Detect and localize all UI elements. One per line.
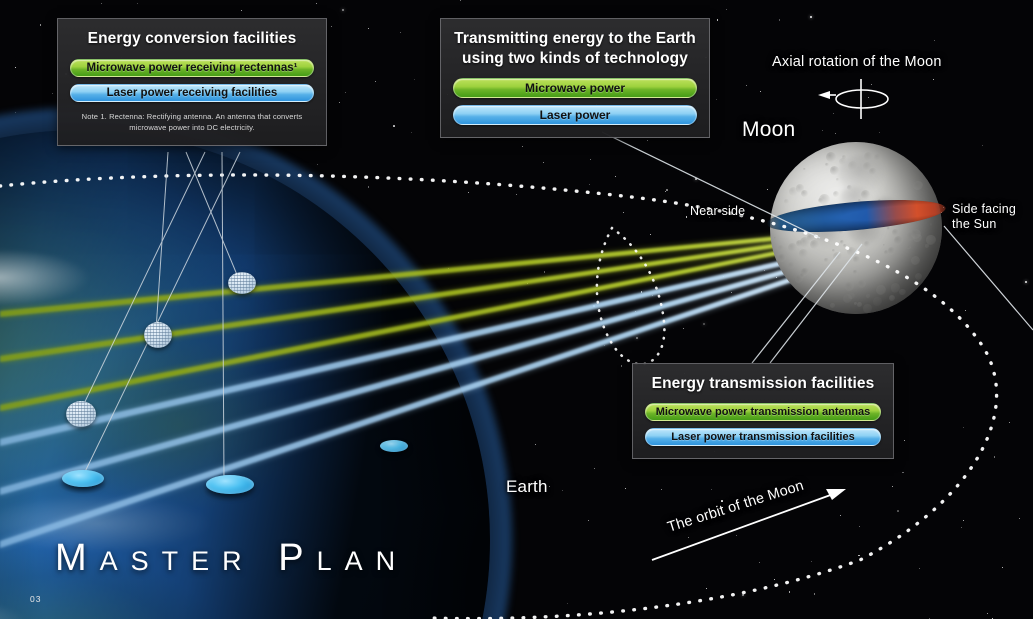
star bbox=[963, 427, 964, 428]
moon-crater bbox=[833, 252, 843, 262]
star bbox=[594, 468, 595, 469]
sun-side-leader-line bbox=[944, 226, 1033, 330]
star bbox=[859, 526, 860, 527]
star bbox=[695, 178, 697, 180]
panel-title: Energy conversion facilities bbox=[70, 29, 314, 49]
moon-crater bbox=[833, 191, 839, 197]
legend-pill-microwave-receiving[interactable]: Microwave power receiving rectennas¹ bbox=[70, 59, 314, 77]
near-side-marker-loop bbox=[597, 228, 665, 364]
star bbox=[879, 132, 880, 133]
moon-crater bbox=[889, 295, 895, 301]
star bbox=[706, 588, 707, 589]
moon-crater bbox=[873, 297, 882, 306]
star bbox=[902, 472, 904, 474]
moon-crater bbox=[866, 294, 870, 298]
star bbox=[636, 337, 638, 339]
moon-crater bbox=[840, 240, 844, 244]
moon-crater bbox=[863, 304, 872, 313]
star bbox=[40, 24, 42, 26]
star bbox=[686, 216, 688, 218]
star bbox=[342, 9, 344, 11]
moon-crater bbox=[848, 161, 859, 172]
star bbox=[625, 488, 626, 489]
moon-crater bbox=[843, 244, 846, 247]
star bbox=[604, 345, 605, 346]
moon-crater bbox=[819, 194, 830, 205]
star bbox=[368, 28, 369, 29]
star bbox=[822, 130, 823, 131]
label-earth: Earth bbox=[506, 477, 548, 497]
star bbox=[549, 486, 551, 488]
moon-crater bbox=[778, 254, 786, 262]
star bbox=[375, 81, 376, 82]
legend-pill-laser-transmission[interactable]: Laser power transmission facilities bbox=[645, 428, 881, 446]
moon-crater bbox=[864, 241, 870, 247]
star bbox=[1002, 567, 1003, 568]
star bbox=[339, 102, 340, 103]
moon-crater bbox=[778, 245, 784, 251]
star bbox=[623, 212, 624, 213]
rectenna-receiving-facility bbox=[66, 401, 96, 427]
label-moon: Moon bbox=[742, 118, 795, 142]
star bbox=[1019, 518, 1020, 519]
star bbox=[650, 234, 651, 235]
moon-crater bbox=[926, 235, 935, 244]
moon-crater bbox=[842, 155, 846, 159]
star bbox=[814, 593, 816, 595]
panel-energy-conversion-facilities[interactable]: Energy conversion facilities Microwave p… bbox=[57, 18, 327, 146]
moon-crater bbox=[810, 240, 819, 249]
star bbox=[767, 189, 768, 190]
moon-crater bbox=[915, 273, 922, 280]
label-axial-rotation: Axial rotation of the Moon bbox=[772, 54, 942, 70]
moon-crater bbox=[801, 268, 809, 276]
star bbox=[567, 603, 568, 604]
moon-crater bbox=[913, 181, 923, 191]
star bbox=[641, 291, 643, 293]
moon-crater bbox=[784, 199, 789, 204]
star bbox=[393, 125, 395, 127]
star bbox=[965, 310, 967, 312]
star bbox=[588, 520, 589, 521]
star bbox=[621, 365, 623, 367]
moon-crater bbox=[864, 152, 873, 161]
moon-crater bbox=[894, 236, 904, 246]
star bbox=[711, 489, 712, 490]
legend-pill-microwave-transmission[interactable]: Microwave power transmission antennas bbox=[645, 403, 881, 421]
star bbox=[688, 537, 689, 538]
star bbox=[562, 490, 563, 491]
moon-crater bbox=[824, 258, 829, 263]
star bbox=[746, 85, 747, 86]
star bbox=[635, 311, 636, 312]
star bbox=[929, 618, 930, 619]
star bbox=[535, 444, 536, 445]
star bbox=[661, 489, 662, 490]
moon-crater bbox=[843, 294, 852, 303]
star bbox=[522, 146, 523, 147]
star bbox=[904, 440, 905, 441]
star bbox=[871, 84, 872, 85]
star bbox=[764, 270, 765, 271]
moon-crater bbox=[883, 244, 885, 246]
star bbox=[810, 16, 812, 18]
rectenna-receiving-facility bbox=[228, 272, 256, 294]
moon-crater bbox=[796, 240, 803, 247]
moon-crater bbox=[788, 243, 797, 252]
star bbox=[703, 323, 705, 325]
star bbox=[933, 79, 934, 80]
star bbox=[615, 176, 616, 177]
moon-crater bbox=[803, 168, 806, 171]
star bbox=[892, 486, 894, 488]
star bbox=[331, 26, 332, 27]
star bbox=[789, 591, 791, 593]
axial-rotation-icon bbox=[818, 79, 888, 119]
laser-receiving-facility bbox=[206, 475, 254, 494]
star bbox=[759, 562, 760, 563]
moon-crater bbox=[925, 244, 928, 247]
moon-crater bbox=[861, 190, 870, 199]
moon-crater bbox=[907, 246, 910, 249]
moon-crater bbox=[830, 166, 839, 175]
label-side-facing-sun: Side facing the Sun bbox=[952, 202, 1016, 233]
star bbox=[665, 191, 666, 192]
moon-crater bbox=[857, 302, 862, 307]
star bbox=[982, 145, 983, 146]
star bbox=[590, 159, 591, 160]
infographic-canvas: Energy conversion facilities Microwave p… bbox=[0, 0, 1033, 619]
star bbox=[987, 613, 988, 614]
moon-crater bbox=[891, 283, 900, 292]
moon-crater bbox=[876, 285, 886, 295]
star bbox=[811, 561, 812, 562]
moon-crater bbox=[874, 154, 881, 161]
legend-pill-laser-receiving[interactable]: Laser power receiving facilities bbox=[70, 84, 314, 102]
star bbox=[868, 97, 869, 98]
label-orbit-of-the-moon: The orbit of the Moon bbox=[666, 478, 806, 536]
star bbox=[833, 113, 834, 114]
star bbox=[723, 276, 724, 277]
star bbox=[963, 520, 964, 521]
star bbox=[774, 579, 775, 580]
label-near-side: Near side bbox=[690, 204, 745, 218]
moon-globe bbox=[770, 142, 942, 314]
star bbox=[676, 604, 677, 605]
star bbox=[652, 295, 653, 296]
moon-crater bbox=[830, 303, 835, 308]
star bbox=[683, 328, 684, 329]
star bbox=[731, 292, 732, 293]
panel-transmitting-energy[interactable]: Transmitting energy to the Earth using t… bbox=[440, 18, 710, 138]
star bbox=[241, 10, 242, 11]
moon-crater bbox=[858, 280, 866, 288]
star bbox=[15, 67, 16, 68]
star bbox=[137, 3, 138, 4]
star bbox=[840, 515, 841, 516]
star bbox=[316, 3, 317, 4]
star bbox=[589, 184, 590, 185]
legend-pill-laser-power[interactable]: Laser power bbox=[453, 105, 697, 125]
star bbox=[779, 19, 781, 21]
star bbox=[460, 0, 461, 1]
star bbox=[666, 189, 668, 191]
panel-title: Transmitting energy to the Earth using t… bbox=[453, 29, 697, 69]
star bbox=[726, 9, 727, 10]
rectenna-receiving-facility bbox=[144, 322, 172, 348]
star bbox=[717, 19, 719, 21]
star bbox=[858, 555, 860, 557]
moon-crater bbox=[911, 256, 921, 266]
moon-crater bbox=[888, 247, 895, 254]
star bbox=[414, 79, 415, 80]
star bbox=[527, 283, 528, 284]
star bbox=[543, 162, 544, 163]
star bbox=[516, 194, 517, 195]
moon-crater bbox=[825, 163, 829, 167]
moon-crater bbox=[796, 184, 804, 192]
star bbox=[961, 527, 962, 528]
star bbox=[716, 99, 717, 100]
moon-crater bbox=[799, 249, 808, 258]
star bbox=[835, 133, 836, 134]
star bbox=[345, 92, 346, 93]
star bbox=[101, 3, 103, 5]
laser-receiving-facility bbox=[380, 440, 408, 452]
star bbox=[742, 594, 744, 596]
moon-crater bbox=[847, 247, 856, 256]
moon-crater bbox=[887, 227, 890, 230]
star bbox=[994, 456, 996, 458]
star bbox=[760, 91, 761, 92]
moon-crater bbox=[845, 282, 854, 291]
moon-crater bbox=[853, 270, 857, 274]
star bbox=[897, 510, 899, 512]
star bbox=[647, 140, 648, 141]
moon-crater bbox=[853, 256, 860, 263]
panel-title: Energy transmission facilities bbox=[645, 374, 881, 394]
star bbox=[593, 305, 595, 307]
moon-crater bbox=[826, 152, 836, 162]
moon-crater bbox=[847, 185, 852, 190]
page-title: Master Plan bbox=[55, 539, 408, 577]
star bbox=[1025, 281, 1027, 283]
star bbox=[934, 40, 935, 41]
star bbox=[52, 93, 53, 94]
legend-pill-microwave-power[interactable]: Microwave power bbox=[453, 78, 697, 98]
laser-receiving-facility bbox=[62, 470, 104, 487]
star bbox=[736, 535, 737, 536]
page-number: 03 bbox=[30, 594, 41, 604]
star bbox=[1009, 422, 1010, 423]
moon-crater bbox=[899, 289, 905, 295]
star bbox=[919, 568, 920, 569]
moon-crater bbox=[930, 223, 933, 226]
moon-crater bbox=[836, 178, 839, 181]
panel-energy-transmission-facilities[interactable]: Energy transmission facilities Microwave… bbox=[632, 363, 894, 459]
moon-crater bbox=[774, 237, 776, 239]
star bbox=[400, 32, 401, 33]
panel-footnote: Note 1. Rectenna: Rectifying antenna. An… bbox=[70, 111, 314, 133]
star bbox=[544, 271, 546, 273]
moon-crater bbox=[788, 262, 795, 269]
